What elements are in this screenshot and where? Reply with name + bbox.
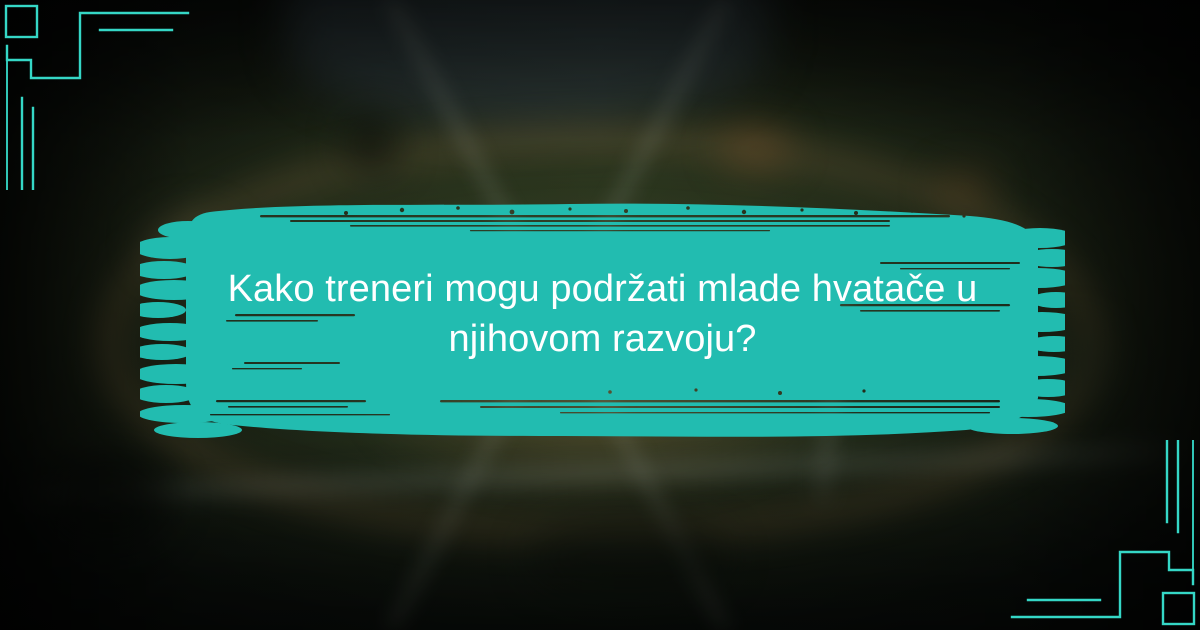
headline-text: Kako treneri mogu podržati mlade hvatače… [200, 264, 1005, 364]
social-share-card: Kako treneri mogu podržati mlade hvatače… [0, 0, 1200, 630]
headline-banner: Kako treneri mogu podržati mlade hvatače… [140, 186, 1065, 454]
